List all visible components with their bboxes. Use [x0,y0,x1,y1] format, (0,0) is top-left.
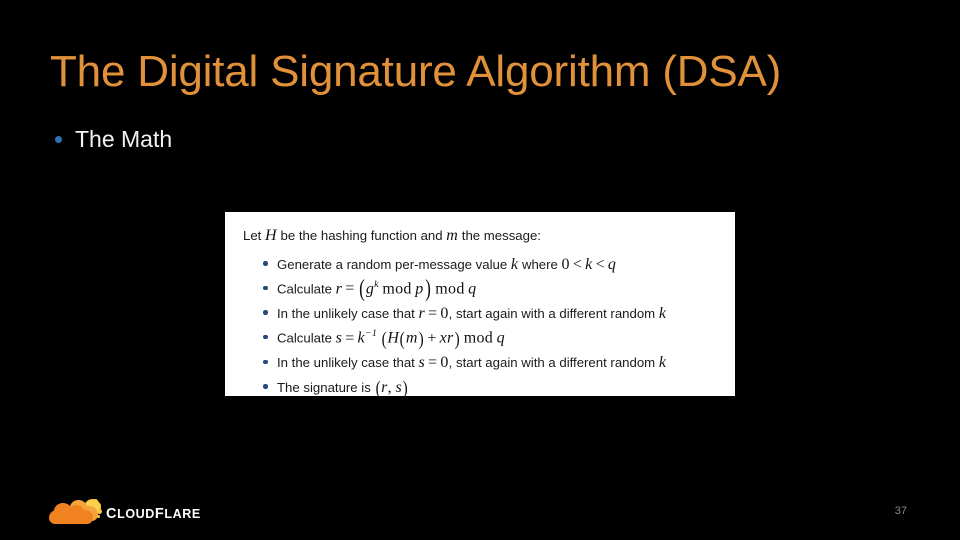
wordmark-c: C [106,506,117,522]
wordmark-loud: LOUD [117,507,155,521]
body-bullet-the-math: The Math [55,126,172,153]
wordmark-lare: LARE [164,507,200,521]
math-step-calculate-s: Calculate s=k−1 (H(m)+xr) mod q [261,326,721,351]
step-text: In the unlikely case that [277,355,415,370]
cloudflare-wordmark: CLOUDFLARE [106,506,201,522]
step-text: Generate a random per-message value [277,257,507,272]
intro-mid: be the hashing function and [281,228,443,243]
wordmark-f: F [155,506,164,522]
step-text: The signature is [277,380,371,395]
step-text-2: , start again with a different random [449,355,655,370]
formula-r: r=(gk mod p) mod q [336,278,477,300]
step-text-2: where [522,257,558,272]
math-step-s-zero-retry: In the unlikely case that s=0, start aga… [261,351,721,375]
intro-lead: Let [243,228,261,243]
step-text: In the unlikely case that [277,306,415,321]
bullet-dot-icon [55,136,62,143]
step-text: Calculate [277,331,332,346]
formula-signature-pair: (r, s) [375,377,409,398]
cloud-front-shape [49,510,93,524]
symbol-H: H [265,227,277,244]
formula-k-range: 0<k<q [562,254,617,275]
math-step-generate-k: Generate a random per-message value k wh… [261,252,721,276]
symbol-k: k [659,354,666,371]
math-step-calculate-r: Calculate r=(gk mod p) mod q [261,277,721,302]
symbol-k: k [659,305,666,322]
symbol-k: k [511,256,518,273]
body-bullet-label: The Math [75,126,172,153]
math-steps-list: Generate a random per-message value k wh… [243,252,721,399]
formula-s-equals-zero: s=0 [419,352,449,373]
math-content-card: Let H be the hashing function and m the … [225,212,735,396]
step-text: Calculate [277,281,332,296]
page-number: 37 [895,505,907,517]
page-title: The Digital Signature Algorithm (DSA) [50,47,781,98]
symbol-m: m [446,227,458,244]
cloud-icon [48,500,102,526]
step-text-2: , start again with a different random [449,306,655,321]
slide: The Digital Signature Algorithm (DSA) Th… [0,0,960,540]
math-intro-line: Let H be the hashing function and m the … [243,224,721,247]
intro-tail: the message: [462,228,541,243]
formula-r-equals-zero: r=0 [419,303,449,324]
math-step-signature-pair: The signature is (r, s) [261,375,721,399]
formula-s: s=k−1 (H(m)+xr) mod q [336,327,505,349]
math-step-r-zero-retry: In the unlikely case that r=0, start aga… [261,301,721,325]
cloudflare-logo: CLOUDFLARE [48,498,168,528]
